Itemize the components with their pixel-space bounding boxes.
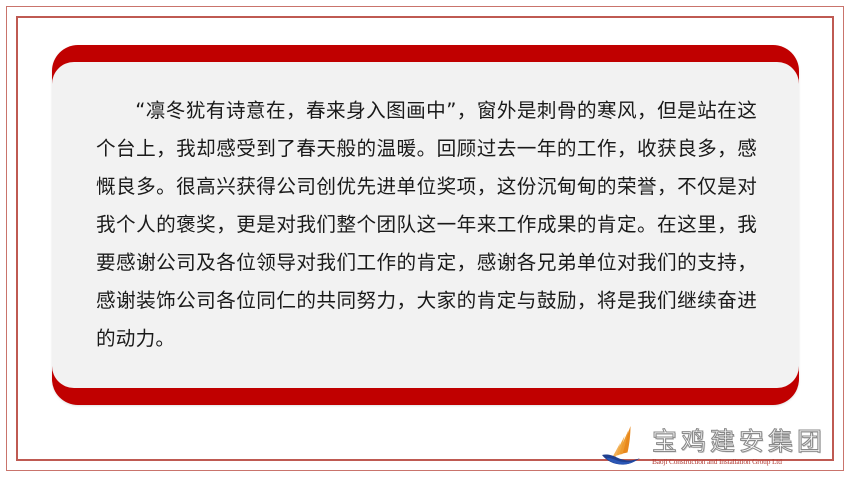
sail-boat-icon (600, 424, 648, 470)
logo-company-name-cn: 宝鸡建安集团 (652, 429, 826, 455)
company-logo: 宝鸡建安集团 Baoji Construction and Installati… (600, 418, 850, 476)
logo-company-name-en: Baoji Construction and Installation Grou… (652, 457, 826, 467)
logo-text-block: 宝鸡建安集团 Baoji Construction and Installati… (652, 427, 826, 467)
speech-body-text: “凛冬犹有诗意在，春来身入图画中”，窗外是刺骨的寒风，但是站在这个台上，我却感受… (52, 92, 799, 358)
speech-card: “凛冬犹有诗意在，春来身入图画中”，窗外是刺骨的寒风，但是站在这个台上，我却感受… (52, 45, 799, 405)
slide-canvas: “凛冬犹有诗意在，春来身入图画中”，窗外是刺骨的寒风，但是站在这个台上，我却感受… (0, 0, 850, 477)
speech-card-panel: “凛冬犹有诗意在，春来身入图画中”，窗外是刺骨的寒风，但是站在这个台上，我却感受… (52, 62, 799, 388)
